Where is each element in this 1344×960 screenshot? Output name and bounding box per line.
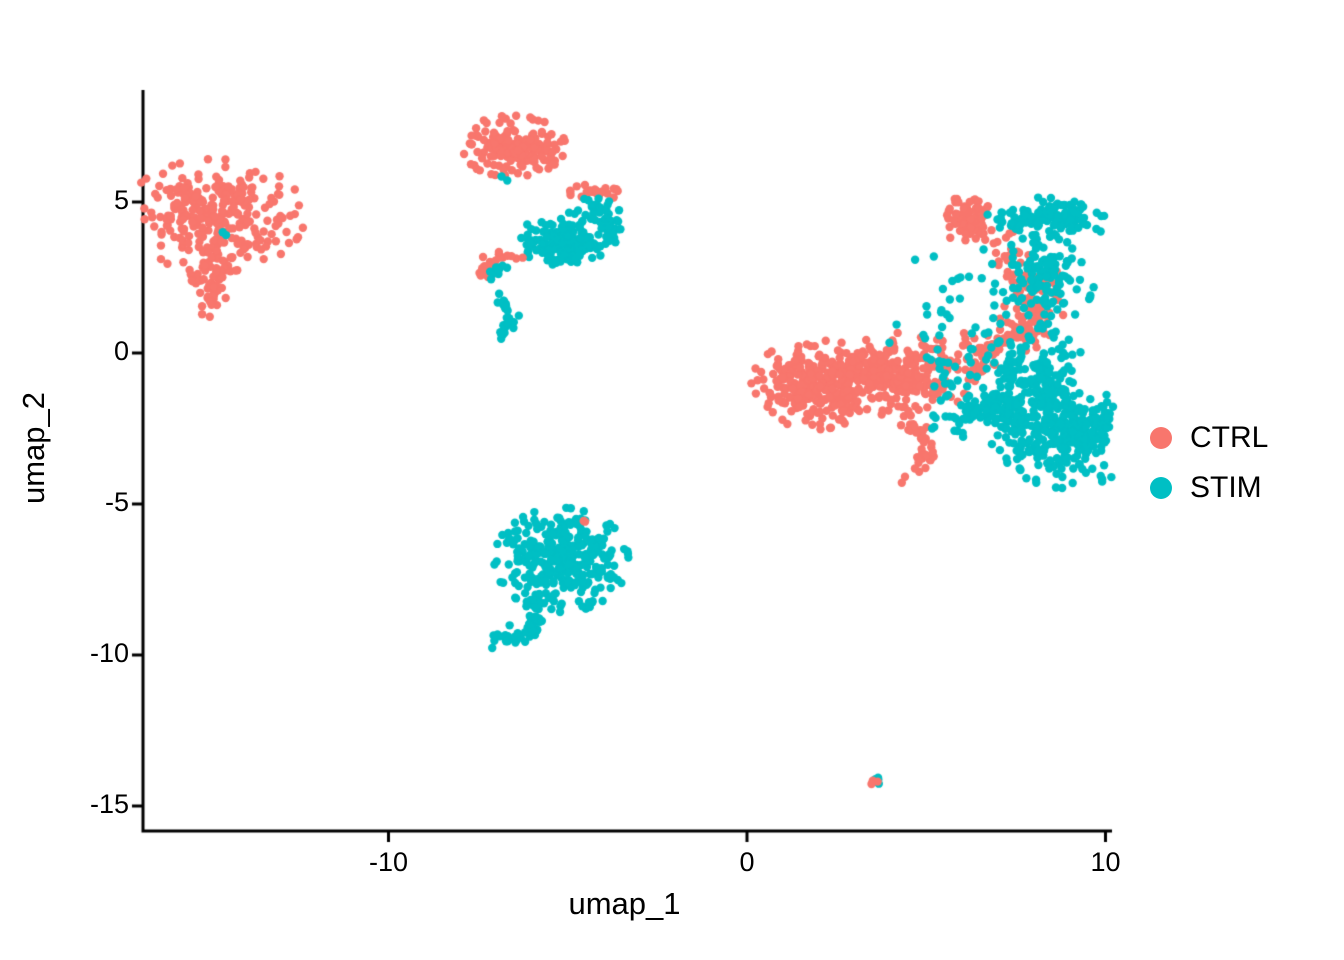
- y-tick-label: 5: [114, 185, 129, 216]
- y-axis-label: umap_2: [16, 368, 52, 528]
- legend-label-ctrl: CTRL: [1190, 423, 1268, 453]
- legend-item-ctrl[interactable]: CTRL: [1150, 418, 1268, 458]
- x-tick-label: 0: [687, 847, 807, 878]
- legend-swatch-stim: [1150, 477, 1172, 499]
- y-tick-label: -5: [105, 487, 129, 518]
- legend: CTRL STIM: [1150, 418, 1268, 508]
- umap-scatter-canvas: [0, 0, 1344, 960]
- legend-item-stim[interactable]: STIM: [1150, 468, 1268, 508]
- scatter-plot-figure: Seurat SCTransform workflow umap_2 umap_…: [0, 0, 1344, 960]
- x-tick-label: 10: [1046, 847, 1166, 878]
- y-tick-label: 0: [114, 336, 129, 367]
- x-axis-label: umap_1: [143, 886, 1106, 922]
- legend-swatch-ctrl: [1150, 427, 1172, 449]
- y-tick-label: -15: [90, 789, 129, 820]
- y-tick-label: -10: [90, 638, 129, 669]
- legend-label-stim: STIM: [1190, 473, 1262, 503]
- x-tick-label: -10: [329, 847, 449, 878]
